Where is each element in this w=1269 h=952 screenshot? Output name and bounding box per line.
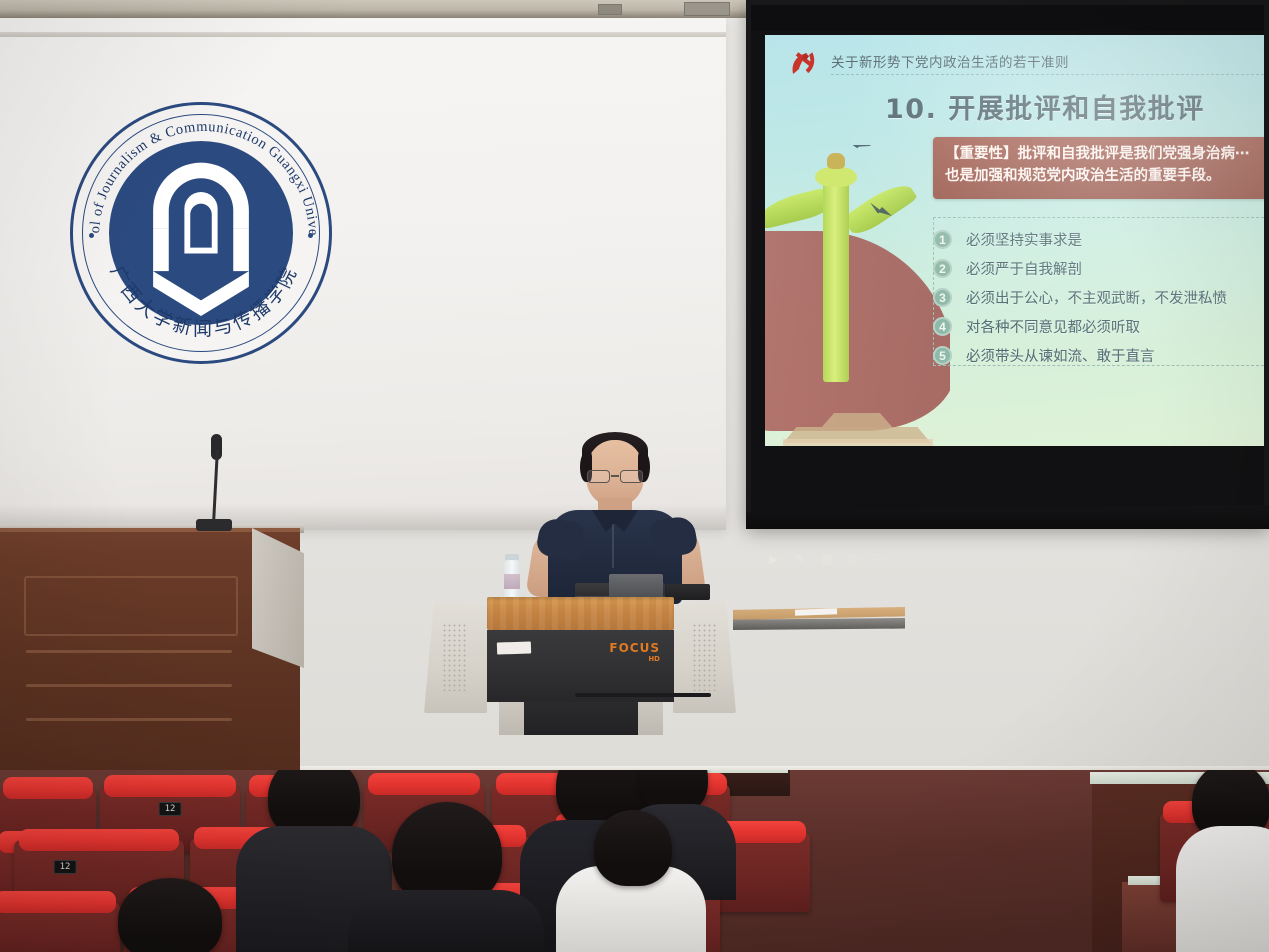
slide-bullet: 1必须坚持实事求是 [933, 225, 1227, 254]
seat-number: 12 [54, 860, 77, 874]
bullet-text: 必须严于自我解剖 [966, 258, 1082, 279]
speaker-grille [442, 623, 468, 691]
play-icon[interactable]: ▶ [769, 552, 783, 566]
seat-cushion [3, 777, 93, 799]
glasses-lens-left [587, 470, 610, 483]
ceiling-bracket-small [598, 4, 622, 15]
seat-number: 12 [159, 802, 182, 816]
slide-bullet: 4对各种不同意见都必须听取 [933, 312, 1227, 341]
bullet-text: 必须出于公心，不主观武断，不发泄私愤 [966, 287, 1227, 308]
projection-screen: 关于新形势下党内政治生活的若干准则 10. 开展批评和自我批评 【重要性】批评和… [746, 0, 1269, 525]
bullet-number: 1 [933, 230, 952, 249]
lectern-vent-slot [575, 693, 711, 697]
brand-name: FOCUS [609, 641, 660, 655]
water-bottle-label [504, 574, 520, 589]
slide-header: 关于新形势下党内政治生活的若干准则 [787, 47, 1264, 81]
bullet-text: 对各种不同意见都必须听取 [966, 316, 1140, 337]
bullet-text: 必须坚持实事求是 [966, 229, 1082, 250]
side-desk-groove [26, 684, 232, 687]
slide-bullet: 2必须严于自我解剖 [933, 254, 1227, 283]
slide-bullet: 3必须出于公心，不主观武断，不发泄私愤 [933, 283, 1227, 312]
powerpoint-slide[interactable]: 关于新形势下党内政治生活的若干准则 10. 开展批评和自我批评 【重要性】批评和… [765, 35, 1264, 446]
audience-shoulders-white [1176, 826, 1269, 952]
side-desk-groove [26, 718, 232, 721]
side-desk-groove [26, 650, 232, 653]
brand-sub: HD [609, 655, 660, 663]
wood-grain [487, 597, 674, 630]
tiananmen-gate [773, 405, 941, 446]
auditorium-seating: 12 12 [0, 770, 1269, 952]
seat[interactable] [0, 902, 120, 952]
school-seal: School of Journalism & Communication Gua… [70, 102, 332, 364]
lectern-brand-label: FOCUS HD [609, 641, 660, 663]
bullet-number: 4 [933, 317, 952, 336]
audience-head [118, 878, 222, 952]
lectern: FOCUS HD [424, 597, 736, 735]
lectern-front-panel: FOCUS HD [487, 630, 674, 702]
seal-emblem-mark [73, 105, 329, 361]
seat-cushion [368, 773, 481, 795]
seat-cushion [0, 891, 116, 913]
slide-header-text: 关于新形势下党内政治生活的若干准则 [831, 51, 1069, 71]
lecture-hall-photo: School of Journalism & Communication Gua… [0, 0, 1269, 952]
gate-upper-roof [813, 413, 901, 427]
zoom-icon[interactable]: ◎ [847, 552, 861, 566]
screen-bezel [751, 5, 1264, 31]
bullet-number: 3 [933, 288, 952, 307]
lectern-base-inset [524, 702, 638, 735]
dove-icon [846, 145, 871, 150]
bullet-number: 5 [933, 346, 952, 365]
side-desk-panel [24, 576, 238, 636]
callout-line-2: 也是加强和规范党内政治生活的重要手段。 [945, 166, 1264, 188]
seat-cushion [19, 829, 179, 851]
seal-dot-right [308, 233, 313, 238]
microphone-base [196, 519, 232, 531]
audience-head [594, 810, 672, 886]
callout-line-1: 【重要性】批评和自我批评是我们党强身治病⋯ [945, 144, 1264, 166]
ceiling-bracket [684, 2, 730, 16]
slide-bullet: 5必须带头从谏如流、敢于直言 [933, 341, 1227, 370]
importance-callout: 【重要性】批评和自我批评是我们党强身治病⋯ 也是加强和规范党内政治生活的重要手段… [933, 137, 1264, 199]
pen-icon[interactable]: ✎ [795, 552, 809, 566]
seal-dot-left [89, 233, 94, 238]
red-flag-shape [765, 231, 950, 431]
wall-shelf-edge [733, 618, 905, 630]
slide-header-rule [831, 74, 1264, 75]
seat-cushion [104, 775, 236, 797]
slide-illustration [765, 145, 950, 446]
bullet-number: 2 [933, 259, 952, 278]
hammer-and-sickle-emblem [787, 49, 821, 79]
lectern-side-left [424, 601, 487, 713]
slide-bullet-list: 1必须坚持实事求是2必须严于自我解剖3必须出于公心，不主观武断，不发泄私愤4对各… [933, 225, 1227, 370]
document-visualizer[interactable] [609, 574, 663, 599]
huabiao-column [823, 177, 849, 382]
ppt-presenter-toolbar[interactable]: ▶✎▥◎⋯ [769, 552, 887, 566]
speaker-grille [692, 623, 718, 691]
bullets-rule-top [933, 217, 1264, 218]
slide-grid-icon[interactable]: ▥ [821, 552, 835, 566]
presenter-placket [612, 524, 614, 568]
banner-rail [0, 32, 726, 37]
lectern-wood-top [487, 597, 674, 630]
glasses-bridge [611, 475, 619, 477]
lectern-sticker [497, 641, 531, 654]
huabiao-cap [815, 167, 857, 187]
slide-title: 10. 开展批评和自我批评 [885, 87, 1205, 126]
gate-body [783, 439, 933, 446]
glasses-icon [586, 470, 644, 483]
bullet-text: 必须带头从谏如流、敢于直言 [966, 345, 1155, 366]
more-options-icon[interactable]: ⋯ [873, 552, 887, 566]
huabiao-top-beast [827, 153, 845, 169]
audience-shoulders [348, 890, 544, 952]
glasses-lens-right [620, 470, 643, 483]
